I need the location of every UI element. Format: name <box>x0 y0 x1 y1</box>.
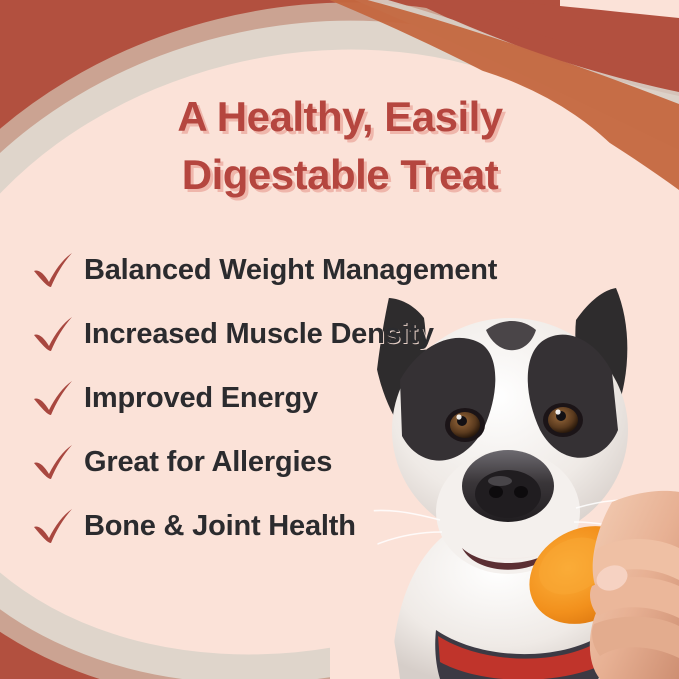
headline: A Healthy, Easily Digestable Treat <box>60 88 620 204</box>
check-icon <box>22 378 84 418</box>
benefit-label: Great for Allergies <box>84 446 332 479</box>
check-icon <box>22 442 84 482</box>
benefit-item: Balanced Weight Management <box>22 238 662 302</box>
benefit-label: Balanced Weight Management <box>84 254 497 287</box>
benefit-label: Improved Energy <box>84 382 318 415</box>
benefit-label: Bone & Joint Health <box>84 510 356 543</box>
benefit-label: Increased Muscle Density <box>84 318 434 351</box>
check-icon <box>22 250 84 290</box>
benefits-list: Balanced Weight Management Increased Mus… <box>22 238 662 558</box>
check-icon <box>22 314 84 354</box>
benefit-item: Great for Allergies <box>22 430 662 494</box>
benefit-item: Improved Energy <box>22 366 662 430</box>
headline-line-1: A Healthy, Easily <box>60 88 620 146</box>
benefit-item: Increased Muscle Density <box>22 302 662 366</box>
headline-line-2: Digestable Treat <box>60 146 620 204</box>
check-icon <box>22 506 84 546</box>
benefit-item: Bone & Joint Health <box>22 494 662 558</box>
infographic-canvas: A Healthy, Easily Digestable Treat Balan… <box>0 0 679 679</box>
